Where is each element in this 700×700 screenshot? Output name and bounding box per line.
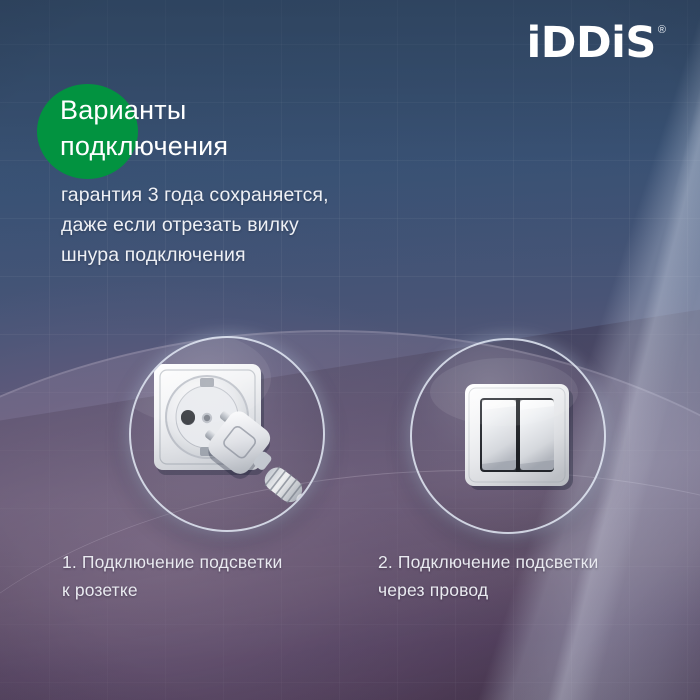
option-2-image-circle xyxy=(412,340,604,532)
power-socket-with-plug-icon xyxy=(131,338,323,530)
page-subtitle: гарантия 3 года сохраняется, даже если о… xyxy=(61,180,481,270)
double-rocker-light-switch-icon xyxy=(412,340,604,532)
brand-logo-text: iDDiS xyxy=(527,22,656,65)
option-1-image-circle xyxy=(131,338,323,530)
page-title: Варианты подключения xyxy=(60,92,480,164)
option-2-caption: 2. Подключение подсветки через провод xyxy=(378,548,688,604)
option-1-caption: 1. Подключение подсветки к розетке xyxy=(62,548,362,604)
promo-banner: iDDiS ® Варианты подключения гарантия 3 … xyxy=(0,0,700,700)
brand-logo: iDDiS ® xyxy=(527,22,666,65)
registered-trademark-icon: ® xyxy=(658,25,666,36)
